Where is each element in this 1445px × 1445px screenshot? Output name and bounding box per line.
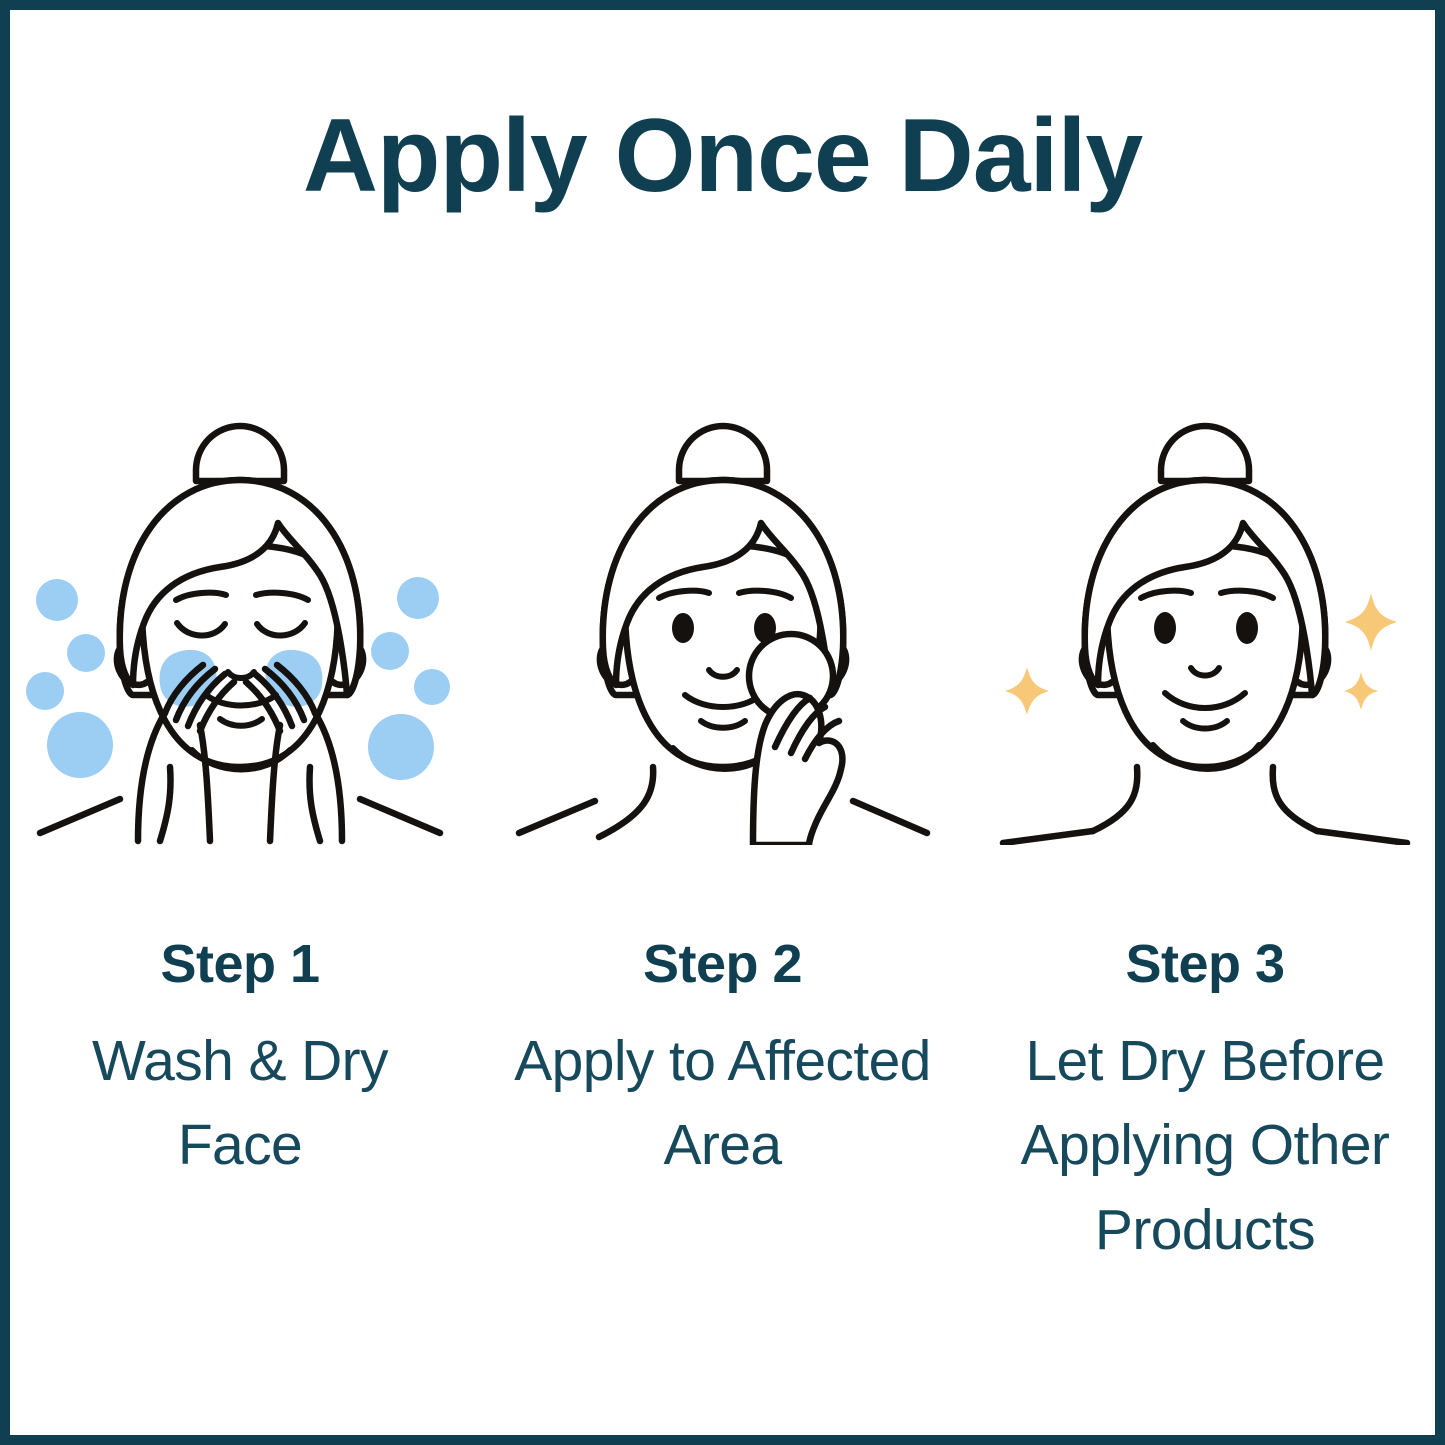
woman-applying-cotton-pad-icon xyxy=(503,395,943,845)
infographic-page: Apply Once Daily xyxy=(0,0,1445,1445)
step-description-3: Let Dry Before Applying Other Products xyxy=(985,1019,1425,1272)
sparkle-medium-icon xyxy=(1005,667,1049,715)
woman-smiling-with-sparkles-icon xyxy=(985,395,1425,845)
step-description-1: Wash & Dry Face xyxy=(25,1019,455,1188)
step-description-2: Apply to Affected Area xyxy=(508,1019,938,1188)
step-card-3: Step 3 Let Dry Before Applying Other Pro… xyxy=(985,395,1425,1272)
step-heading-3: Step 3 xyxy=(1125,937,1284,991)
steps-row: Step 1 Wash & Dry Face xyxy=(20,395,1425,1272)
sparkle-small-icon xyxy=(1344,672,1378,710)
step-card-1: Step 1 Wash & Dry Face xyxy=(20,395,460,1188)
step-heading-1: Step 1 xyxy=(160,937,319,991)
sparkle-large-icon xyxy=(1345,593,1397,651)
step-heading-2: Step 2 xyxy=(643,937,802,991)
woman-washing-face-with-bubbles-icon xyxy=(20,395,460,845)
page-title: Apply Once Daily xyxy=(10,102,1435,211)
step-card-2: Step 2 Apply to Affected Area xyxy=(503,395,943,1188)
